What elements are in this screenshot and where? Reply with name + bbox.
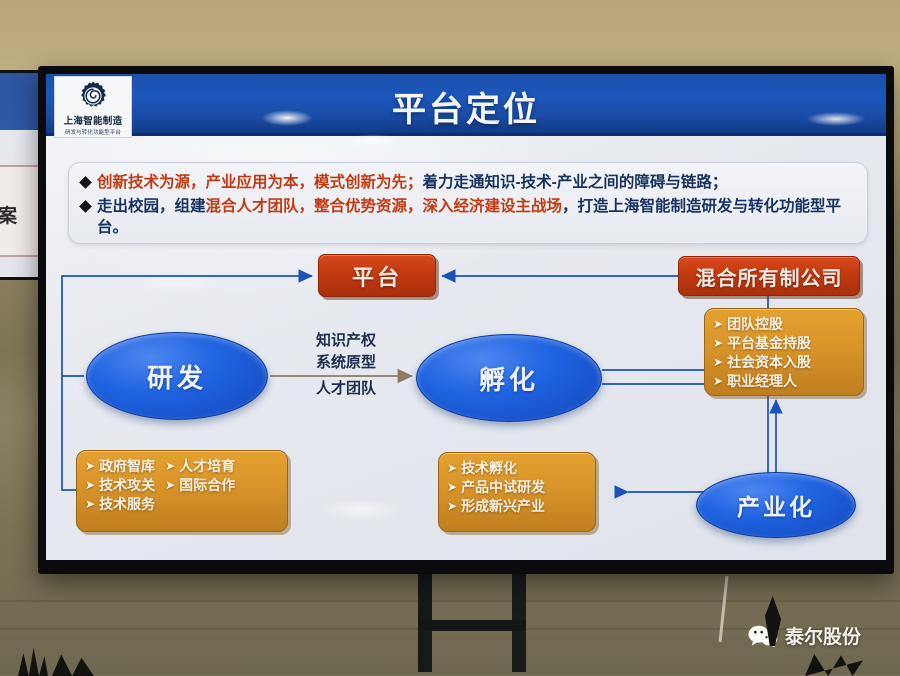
list-item: ➤政府智库 [85,457,155,476]
page-title: 平台定位 [46,82,886,131]
gear-spiral-icon [77,80,109,112]
list-item-label: 社会资本入股 [727,353,811,372]
list-item: ➤团队控股 [713,315,855,334]
adjacent-display: 案 [0,70,42,280]
bullet-text: 创新技术为源，产业应用为本，模式创新为先；着力走通知识-技术-产业之间的障碍与链… [97,172,727,193]
chevron-right-icon: ➤ [165,457,175,476]
node-mixed-ownership-company[interactable]: 混合所有制公司 [678,256,860,296]
chevron-right-icon: ➤ [447,478,457,497]
bullet-text: 走出校园，组建混合人才团队，整合优势资源，深入经济建设主战场，打造上海智能制造研… [97,196,857,238]
presentation-slide: 平台定位 上海智能制造 研发与转化功能型平台 [46,74,886,560]
list-item-label: 人才培育 [179,457,235,476]
chevron-right-icon: ➤ [85,476,95,495]
list-item-label: 技术孵化 [461,459,517,478]
chevron-right-icon: ➤ [447,497,457,516]
list-item-label: 职业经理人 [727,372,797,391]
bullet-item: 走出校园，组建混合人才团队，整合优势资源，深入经济建设主战场，打造上海智能制造研… [81,196,857,238]
transfer-labels: 知识产权 系统原型 人才团队 [280,330,412,400]
list-item: ➤产品中试研发 [447,478,587,497]
display-screen: 平台定位 上海智能制造 研发与转化功能型平台 [46,74,886,560]
list-item-label: 技术攻关 [99,476,155,495]
logo-name-line1: 上海智能制造 [64,113,123,127]
logo-name-line2: 研发与转化功能型平台 [65,128,121,136]
list-item: ➤平台基金持股 [713,334,855,353]
tv-stand-crossbar [418,620,526,631]
node-industrialization[interactable]: 产业化 [696,472,856,538]
bullet-item: 创新技术为源，产业应用为本，模式创新为先；着力走通知识-技术-产业之间的障碍与链… [81,172,857,193]
wall-seam-upper [0,600,900,602]
list-item-label: 形成新兴产业 [461,497,545,516]
diamond-bullet-icon [79,200,92,213]
list-item: ➤社会资本入股 [713,353,855,372]
list-item-label: 国际合作 [179,476,235,495]
chevron-right-icon: ➤ [713,353,723,372]
chevron-right-icon: ➤ [713,334,723,353]
display-screen-bezel: 平台定位 上海智能制造 研发与转化功能型平台 [38,66,894,574]
adjacent-display-text: 案 [0,201,17,228]
list-item: ➤形成新兴产业 [447,497,587,516]
chevron-right-icon: ➤ [85,495,95,514]
transfer-label-2: 系统原型 [280,352,412,374]
platform-positioning-diagram: 平台 混合所有制公司 研发 孵化 产业化 知识产权 系统原型 人才团队 ➤团队控… [68,252,868,552]
list-item: ➤人才培育 [165,457,235,476]
chevron-right-icon: ➤ [713,372,723,391]
transfer-label-3: 人才团队 [280,378,412,400]
bullet-1-segment-2: 着力走通知识-技术-产业之间的障碍与链路； [423,174,728,191]
watermark: 泰尔股份 [748,622,861,649]
bullet-1-segment-1: 创新技术为源，产业应用为本，模式创新为先； [97,174,423,191]
node-rd[interactable]: 研发 [86,332,268,420]
incubation-functions-list[interactable]: ➤技术孵化 ➤产品中试研发 ➤形成新兴产业 [438,452,596,532]
node-incubation[interactable]: 孵化 [416,334,602,422]
chevron-right-icon: ➤ [447,459,457,478]
list-item-label: 政府智库 [99,457,155,476]
list-item: ➤技术孵化 [447,459,587,478]
diamond-bullet-icon [79,176,92,189]
list-item: ➤国际合作 [165,476,235,495]
list-item-label: 技术服务 [99,495,155,514]
list-item: ➤技术攻关 [85,476,155,495]
shareholding-list[interactable]: ➤团队控股 ➤平台基金持股 ➤社会资本入股 ➤职业经理人 [704,308,864,396]
bullet-panel: 创新技术为源，产业应用为本，模式创新为先；着力走通知识-技术-产业之间的障碍与链… [68,162,868,244]
bullet-2-segment-2: 混合人才团队，整合优势资源，深入经济建设主战场 [206,198,563,215]
bullet-2-segment-1: 走出校园，组建 [97,198,206,215]
chevron-right-icon: ➤ [713,315,723,334]
organization-logo: 上海智能制造 研发与转化功能型平台 [54,76,132,138]
chevron-right-icon: ➤ [85,457,95,476]
list-item-label: 团队控股 [727,315,783,334]
list-item-label: 平台基金持股 [727,334,811,353]
transfer-label-1: 知识产权 [280,330,412,352]
list-item: ➤职业经理人 [713,372,855,391]
chevron-right-icon: ➤ [165,476,175,495]
rd-functions-list[interactable]: ➤政府智库 ➤技术攻关 ➤技术服务 ➤人才培育 ➤国际合作 [76,450,288,532]
watermark-text: 泰尔股份 [785,622,861,649]
node-platform[interactable]: 平台 [318,254,436,297]
list-item: ➤技术服务 [85,495,155,514]
list-item-label: 产品中试研发 [461,478,545,497]
